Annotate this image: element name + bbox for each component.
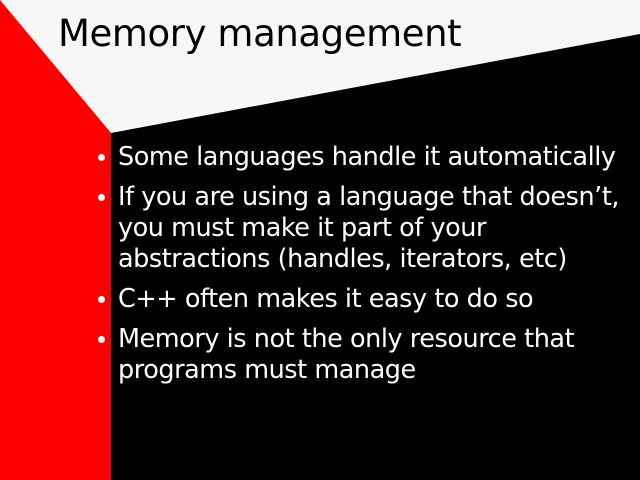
- bullet-dot-icon: [98, 194, 105, 201]
- bullet-text: C++ often makes it easy to do so: [118, 284, 635, 315]
- bullet-dot-icon: [98, 336, 105, 343]
- list-item: C++ often makes it easy to do so: [90, 284, 635, 315]
- bullet-text: Some languages handle it automatically: [118, 142, 635, 173]
- list-item: Some languages handle it automatically: [90, 142, 635, 173]
- page-title: Memory management: [58, 12, 618, 56]
- bullet-text: If you are using a language that doesn’t…: [118, 182, 635, 275]
- list-item: Memory is not the only resource that pro…: [90, 324, 635, 386]
- bullet-dot-icon: [98, 296, 105, 303]
- list-item: If you are using a language that doesn’t…: [90, 182, 635, 275]
- bullet-text: Memory is not the only resource that pro…: [118, 324, 635, 386]
- bullet-list: Some languages handle it automatically I…: [90, 142, 635, 386]
- presentation-slide: Memory management Some languages handle …: [0, 0, 640, 480]
- bullet-dot-icon: [98, 154, 105, 161]
